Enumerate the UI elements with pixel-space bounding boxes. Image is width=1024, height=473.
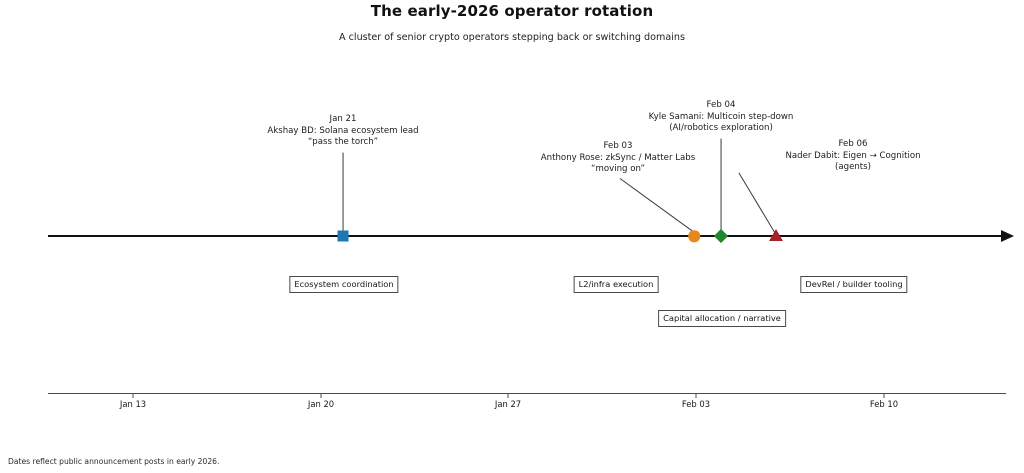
event-leader-line	[738, 173, 776, 235]
timeline-axis	[48, 235, 1006, 237]
event-marker-diamond[interactable]	[714, 229, 728, 243]
date-tick-label: Jan 20	[308, 399, 334, 409]
event-annotation: Feb 06 Nader Dabit: Eigen → Cognition (a…	[785, 139, 920, 174]
timeline-chart: The early-2026 operator rotation A clust…	[0, 0, 1024, 473]
event-quote: “pass the torch”	[267, 137, 418, 149]
date-tick	[696, 393, 697, 398]
event-date: Feb 06	[785, 139, 920, 151]
event-headline: Akshay BD: Solana ecosystem lead	[267, 126, 418, 138]
event-leader-line	[720, 139, 721, 236]
event-leader-line	[620, 178, 701, 237]
category-chip[interactable]: L2/infra execution	[574, 276, 659, 293]
category-chip[interactable]: Capital allocation / narrative	[658, 310, 786, 327]
date-axis	[48, 393, 1006, 394]
footer-caption: Dates reflect public announcement posts …	[8, 457, 219, 466]
event-annotation: Feb 03 Anthony Rose: zkSync / Matter Lab…	[541, 141, 695, 176]
event-leader-line	[342, 153, 343, 236]
event-annotation: Feb 04 Kyle Samani: Multicoin step-down …	[649, 100, 794, 135]
date-tick-label: Jan 27	[495, 399, 521, 409]
date-tick-label: Feb 10	[870, 399, 898, 409]
date-tick	[508, 393, 509, 398]
date-tick-label: Jan 13	[120, 399, 146, 409]
event-quote: “moving on”	[541, 164, 695, 176]
event-marker-circle[interactable]	[688, 230, 700, 242]
event-marker-square[interactable]	[338, 231, 349, 242]
event-headline: Kyle Samani: Multicoin step-down	[649, 112, 794, 124]
event-headline: Anthony Rose: zkSync / Matter Labs	[541, 153, 695, 165]
event-date: Jan 21	[267, 114, 418, 126]
chart-subtitle: A cluster of senior crypto operators ste…	[0, 32, 1024, 43]
date-tick-label: Feb 03	[682, 399, 710, 409]
date-tick	[321, 393, 322, 398]
event-marker-triangle[interactable]	[769, 229, 783, 241]
category-chip[interactable]: DevRel / builder tooling	[800, 276, 907, 293]
event-quote: (agents)	[785, 162, 920, 174]
event-date: Feb 03	[541, 141, 695, 153]
event-annotation: Jan 21 Akshay BD: Solana ecosystem lead …	[267, 114, 418, 149]
date-tick	[884, 393, 885, 398]
event-headline: Nader Dabit: Eigen → Cognition	[785, 151, 920, 163]
category-chip[interactable]: Ecosystem coordination	[289, 276, 398, 293]
chart-title: The early-2026 operator rotation	[0, 2, 1024, 20]
event-date: Feb 04	[649, 100, 794, 112]
date-tick	[133, 393, 134, 398]
timeline-arrowhead-icon	[1001, 230, 1014, 242]
event-quote: (AI/robotics exploration)	[649, 123, 794, 135]
